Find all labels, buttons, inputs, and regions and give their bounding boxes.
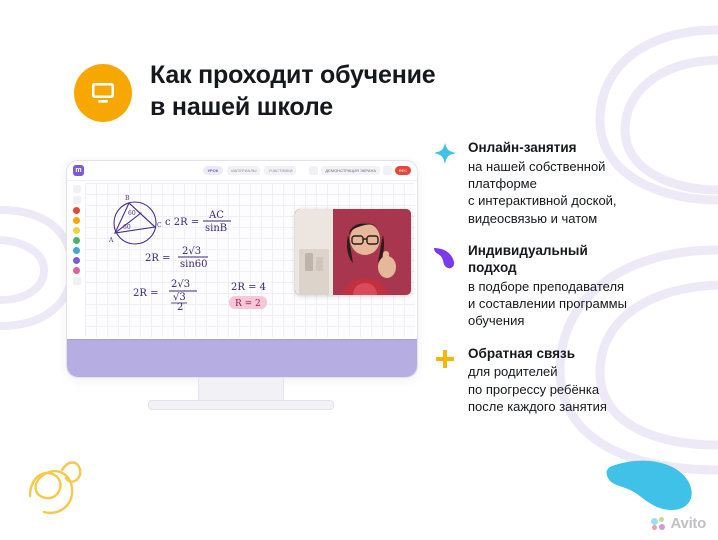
app-toolbar: m УРОК МАТЕРИАЛЫ УЧАСТНИКИ ДЕМОНСТРАЦИЯ … bbox=[67, 161, 417, 181]
screen-share-select[interactable]: ДЕМОНСТРАЦИЯ ЭКРАНА bbox=[321, 166, 380, 175]
svg-text:60: 60 bbox=[128, 210, 136, 217]
feature-title: Онлайн-занятия bbox=[468, 140, 700, 157]
color-swatch-pink[interactable] bbox=[73, 267, 80, 274]
color-swatch-blue[interactable] bbox=[73, 247, 80, 254]
plus-icon bbox=[432, 348, 458, 374]
record-button[interactable]: REC bbox=[395, 166, 411, 175]
color-swatch-orange[interactable] bbox=[73, 217, 80, 224]
svg-text:2R =: 2R = bbox=[133, 288, 158, 299]
feature-list: Онлайн-занятия на нашей собственной плат… bbox=[432, 140, 700, 431]
monitor-mockup: m УРОК МАТЕРИАЛЫ УЧАСТНИКИ ДЕМОНСТРАЦИЯ … bbox=[66, 160, 418, 378]
svg-text:R = 2: R = 2 bbox=[235, 299, 261, 309]
tool-rail[interactable] bbox=[70, 185, 83, 285]
avito-watermark: Avito bbox=[651, 515, 706, 532]
svg-text:sin60: sin60 bbox=[180, 259, 208, 270]
svg-text:sinB: sinB bbox=[205, 223, 227, 234]
eraser-tool-icon[interactable] bbox=[73, 277, 81, 285]
spark-icon bbox=[432, 142, 458, 168]
avito-logo-icon bbox=[651, 517, 667, 531]
header: Как проходит обучение в нашей школе bbox=[74, 56, 435, 123]
color-swatch-yellow[interactable] bbox=[73, 227, 80, 234]
pen-icon[interactable] bbox=[309, 166, 318, 175]
toolbar-right-group: ДЕМОНСТРАЦИЯ ЭКРАНА REC bbox=[309, 166, 411, 175]
color-swatch-red[interactable] bbox=[73, 207, 80, 214]
svg-text:2√3: 2√3 bbox=[171, 279, 190, 290]
swoosh-icon bbox=[432, 245, 458, 271]
monitor-stand-foot bbox=[148, 400, 334, 410]
monitor-icon bbox=[89, 80, 117, 106]
svg-text:c 2R =: c 2R = bbox=[165, 217, 199, 228]
whiteboard-area[interactable]: B 60 60 A C c 2R = AC sinB 2R = 2√3 sin6… bbox=[67, 181, 417, 339]
page-title: Как проходит обучение в нашей школе bbox=[150, 60, 435, 123]
feature-item-online: Онлайн-занятия на нашей собственной плат… bbox=[432, 140, 700, 227]
svg-text:2R = 4: 2R = 4 bbox=[231, 282, 266, 293]
feature-text: на нашей собственной платформе с интерак… bbox=[468, 158, 700, 227]
feature-title: Обратная связь bbox=[468, 346, 700, 363]
pen-tool-icon[interactable] bbox=[73, 196, 81, 204]
svg-text:60: 60 bbox=[123, 224, 131, 231]
feature-text: для родителей по прогрессу ребёнка после… bbox=[468, 363, 700, 415]
mic-icon[interactable] bbox=[383, 166, 392, 175]
feature-text: в подборе преподавателя и составлении пр… bbox=[468, 278, 700, 330]
tab-participants[interactable]: УЧАСТНИКИ bbox=[264, 166, 296, 175]
webcam-tile[interactable] bbox=[295, 209, 411, 295]
feature-item-individual: Индивидуальный подход в подборе преподав… bbox=[432, 243, 700, 330]
feature-title: Индивидуальный подход bbox=[468, 243, 700, 277]
triangle-label-c: C bbox=[157, 222, 162, 229]
svg-text:2: 2 bbox=[177, 302, 183, 313]
svg-text:2R =: 2R = bbox=[145, 253, 170, 264]
triangle-label-a: A bbox=[108, 237, 114, 244]
svg-text:AC: AC bbox=[208, 210, 224, 221]
slide-root: Как проходит обучение в нашей школе m УР… bbox=[0, 0, 718, 540]
app-logo: m bbox=[73, 165, 84, 176]
color-swatch-green[interactable] bbox=[73, 237, 80, 244]
tab-materials[interactable]: МАТЕРИАЛЫ bbox=[227, 166, 260, 175]
feature-item-feedback: Обратная связь для родителей по прогресс… bbox=[432, 346, 700, 416]
color-swatch-purple[interactable] bbox=[73, 257, 80, 264]
svg-text:2√3: 2√3 bbox=[182, 246, 201, 257]
avito-watermark-text: Avito bbox=[671, 515, 706, 532]
header-badge bbox=[74, 64, 132, 122]
lesson-pill[interactable]: УРОК bbox=[203, 166, 224, 175]
select-tool-icon[interactable] bbox=[73, 185, 81, 193]
monitor-base bbox=[67, 339, 417, 377]
triangle-label-b: B bbox=[125, 195, 130, 202]
